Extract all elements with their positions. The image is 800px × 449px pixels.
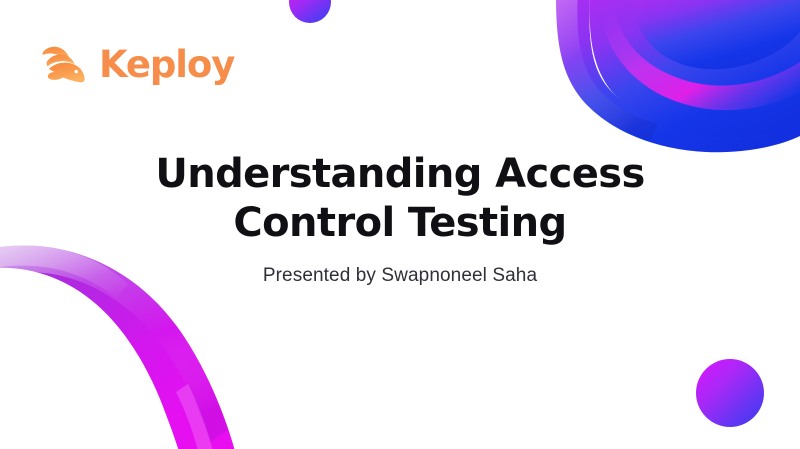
rabbit-logo-icon: [38, 38, 90, 90]
brand-logo[interactable]: Keploy: [38, 38, 234, 90]
presenter-subtitle: Presented by Swapnoneel Saha: [0, 264, 800, 289]
top-partial-circle-shape: [289, 0, 331, 23]
page-title: Understanding Access Control Testing: [0, 150, 800, 248]
slide-content: Understanding Access Control Testing Pre…: [0, 150, 800, 288]
title-slide: Keploy Understanding Access Control Test…: [0, 0, 800, 449]
title-line-2: Control Testing: [60, 199, 740, 248]
brand-name: Keploy: [99, 46, 234, 83]
top-right-ribbon-shape: [556, 0, 800, 152]
title-line-1: Understanding Access: [60, 150, 740, 199]
bottom-right-circle-shape: [696, 359, 764, 427]
